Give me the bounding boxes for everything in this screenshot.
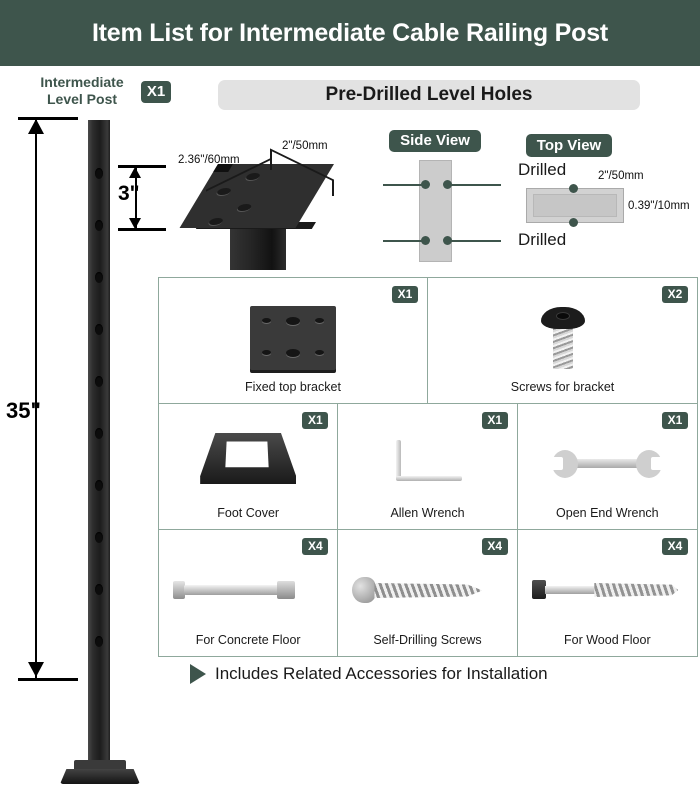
dimension-tick-top	[18, 117, 78, 120]
post-hole	[95, 584, 103, 595]
cable-line	[445, 240, 501, 242]
drilled-hole-dot	[443, 236, 452, 245]
arrow-up-icon	[28, 119, 44, 134]
accessory-cell-for-wood-floor[interactable]: X4 For Wood Floor	[518, 530, 697, 656]
iso-top-plate	[180, 164, 334, 228]
bracket-plate-icon	[159, 300, 427, 375]
post-hole	[95, 168, 103, 179]
accessory-cell-screws-for-bracket[interactable]: X2 Screws for bracket	[428, 278, 697, 403]
accessories-grid: X1 Fixed top bracket X2	[158, 277, 698, 657]
spacing-tick-bottom	[118, 228, 166, 231]
drilled-hole-dot	[443, 180, 452, 189]
post-hole	[95, 532, 103, 543]
accessory-caption: For Wood Floor	[518, 633, 697, 647]
post-foot-plate	[60, 760, 140, 786]
accessory-cell-open-end-wrench[interactable]: X1 Open End Wrench	[518, 404, 697, 529]
arrow-down-icon	[129, 218, 141, 229]
height-dimension-label: 35"	[6, 398, 41, 424]
accessories-row: X1 Foot Cover X1 Allen Wrench	[159, 404, 697, 530]
leader-line	[270, 150, 272, 170]
page-title: Item List for Intermediate Cable Railing…	[92, 19, 608, 48]
post-hole	[95, 480, 103, 491]
footer-note: Includes Related Accessories for Install…	[190, 664, 548, 684]
top-view-thickness-label: 0.39"/10mm	[628, 200, 690, 212]
side-view-diagram: Side View	[383, 130, 508, 270]
drilled-hole-dot	[569, 184, 578, 193]
accessory-caption: Screws for bracket	[428, 380, 697, 394]
bracket-depth-label: 2.36"/60mm	[178, 154, 240, 166]
top-view-post-inner	[533, 194, 617, 217]
accessory-cell-for-concrete-floor[interactable]: X4 For Concrete Floor	[159, 530, 338, 656]
top-view-chip: Top View	[526, 134, 612, 157]
accessory-cell-fixed-top-bracket[interactable]: X1 Fixed top bracket	[159, 278, 428, 403]
post-label: Intermediate Level Post	[26, 74, 138, 108]
accessories-row: X1 Fixed top bracket X2	[159, 278, 697, 404]
side-view-chip: Side View	[389, 130, 481, 152]
self-drilling-screw-icon	[338, 552, 516, 628]
plate-hole	[215, 188, 232, 195]
cable-line	[445, 184, 501, 186]
accessory-cell-self-drilling-screws[interactable]: X4 Self-Drilling Screws	[338, 530, 517, 656]
post-body	[88, 120, 110, 775]
concrete-anchor-bolt-icon	[159, 552, 337, 628]
accessory-cell-foot-cover[interactable]: X1 Foot Cover	[159, 404, 338, 529]
post-hole	[95, 272, 103, 283]
arrow-down-icon	[28, 662, 44, 677]
accessory-caption: Foot Cover	[159, 506, 337, 520]
plate-hole	[236, 204, 253, 211]
post-quantity-badge: X1	[141, 81, 171, 103]
foot-plate-base	[60, 769, 140, 784]
arrow-up-icon	[129, 167, 141, 178]
bracket-isometric-drawing: 2"/50mm 2.36"/60mm	[178, 140, 363, 270]
post-hole	[95, 428, 103, 439]
accessory-caption: Open End Wrench	[518, 506, 697, 520]
post-label-line1: Intermediate	[26, 74, 138, 91]
allen-wrench-icon	[338, 426, 516, 501]
side-view-post-section	[419, 160, 452, 262]
accessory-caption: Allen Wrench	[338, 506, 516, 520]
flat-head-screw-icon	[428, 300, 697, 375]
top-view-drilled-top-label: Drilled	[518, 160, 566, 180]
dimension-tick-bottom	[18, 678, 78, 681]
drilled-hole-dot	[421, 236, 430, 245]
drilled-hole-dot	[421, 180, 430, 189]
spacing-tick-top	[118, 165, 166, 168]
post-hole	[95, 636, 103, 647]
accessory-caption: For Concrete Floor	[159, 633, 337, 647]
plate-hole	[207, 218, 224, 225]
accessory-cell-allen-wrench[interactable]: X1 Allen Wrench	[338, 404, 517, 529]
post-hole	[95, 220, 103, 231]
page-header: Item List for Intermediate Cable Railing…	[0, 0, 700, 66]
top-view-drilled-bottom-label: Drilled	[518, 230, 566, 250]
product-spec-sheet: Item List for Intermediate Cable Railing…	[0, 0, 700, 700]
accessories-row: X4 For Concrete Floor X4	[159, 530, 697, 656]
accessory-caption: Self-Drilling Screws	[338, 633, 516, 647]
drilled-hole-dot	[569, 218, 578, 227]
post-hole	[95, 324, 103, 335]
hole-spacing-label: 3"	[118, 182, 140, 206]
bracket-width-label: 2"/50mm	[282, 140, 328, 152]
post-hole	[95, 376, 103, 387]
pre-drilled-banner-label: Pre-Drilled Level Holes	[326, 84, 533, 106]
footer-text: Includes Related Accessories for Install…	[215, 664, 548, 684]
pre-drilled-banner: Pre-Drilled Level Holes	[218, 80, 640, 110]
top-view-diagram: Top View Drilled 2"/50mm 0.39"/10mm Dril…	[512, 134, 697, 269]
top-view-width-label: 2"/50mm	[598, 170, 644, 182]
foot-cover-icon	[159, 426, 337, 501]
post-label-line2: Level Post	[26, 91, 138, 108]
lag-screw-icon	[518, 552, 697, 628]
plate-hole	[244, 173, 261, 180]
accessory-caption: Fixed top bracket	[159, 380, 427, 394]
open-end-wrench-icon	[518, 426, 697, 501]
leader-line	[332, 180, 334, 196]
play-triangle-icon	[190, 664, 206, 684]
